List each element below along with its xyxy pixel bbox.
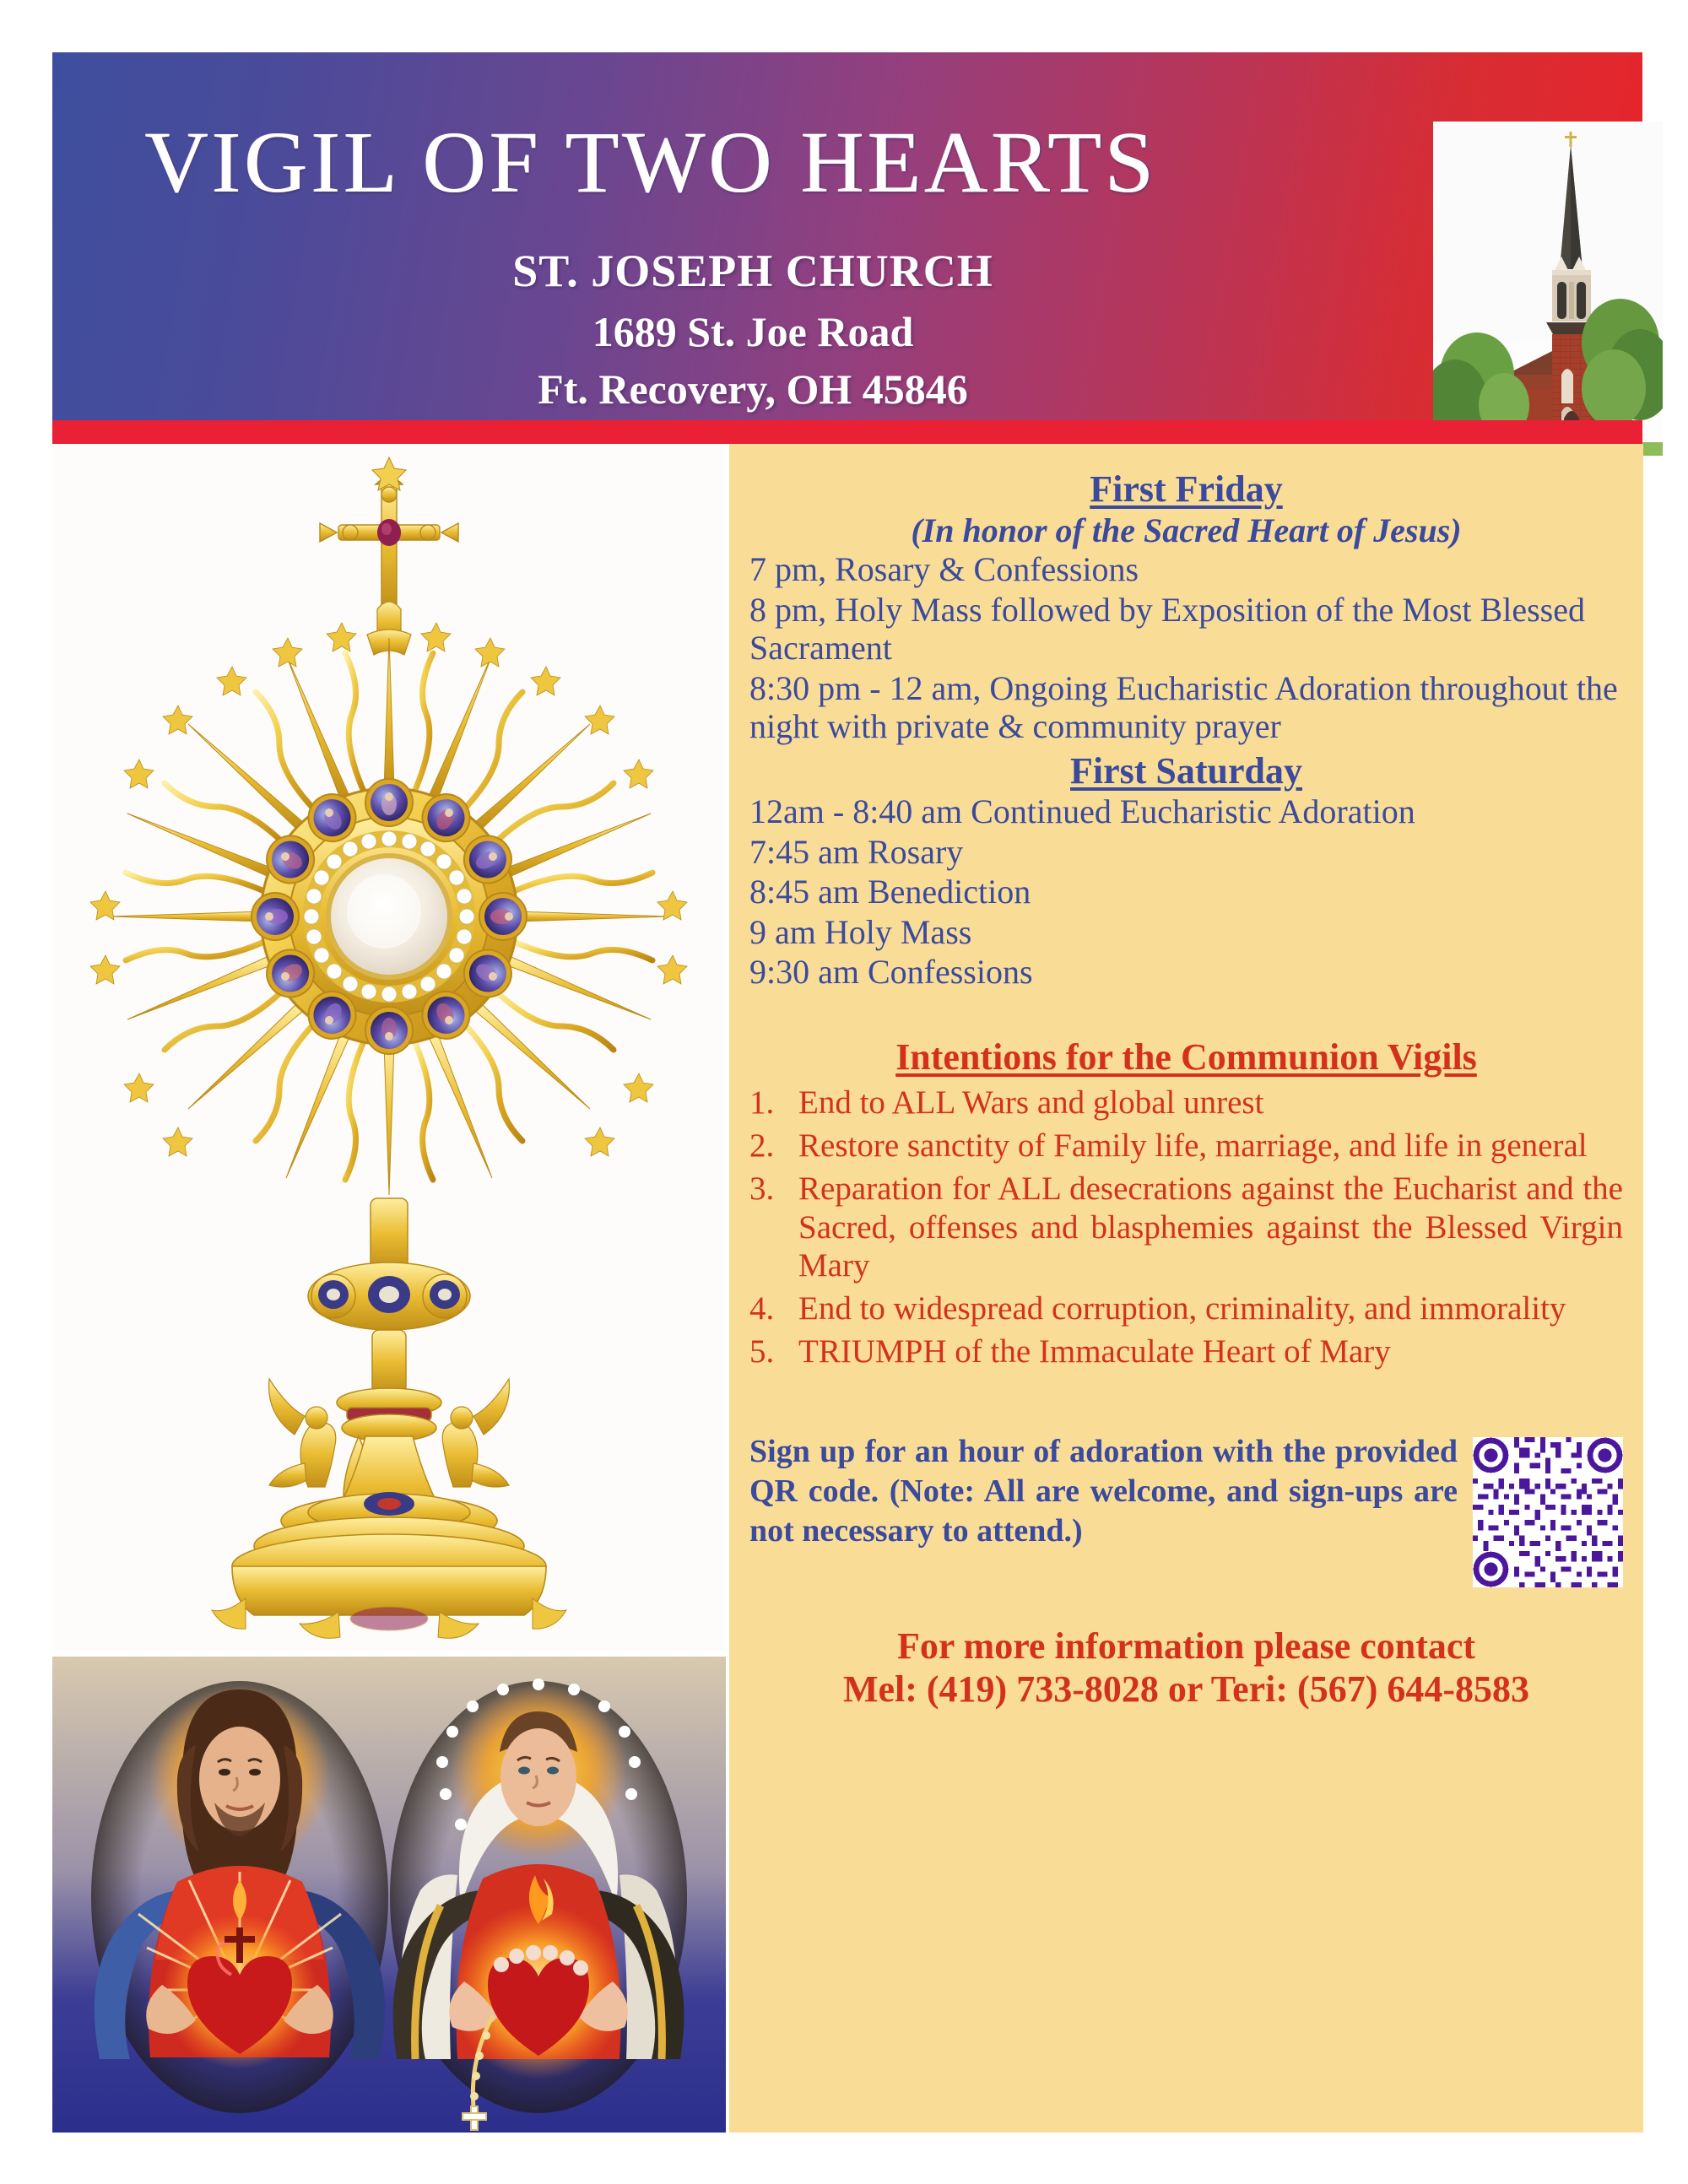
list-item: 5. TRIUMPH of the Immaculate Heart of Ma… <box>749 1333 1623 1370</box>
saturday-item-1: 12am - 8:40 am Continued Eucharistic Ado… <box>749 792 1623 831</box>
first-friday-subheading: (In honor of the Sacred Heart of Jesus) <box>749 511 1623 550</box>
friday-item-2: 8 pm, Holy Mass followed by Exposition o… <box>749 591 1623 668</box>
church-exterior-photo <box>1433 122 1663 456</box>
intention-text: End to widespread corruption, criminalit… <box>798 1289 1623 1327</box>
left-image-column <box>52 444 726 2133</box>
first-friday-heading: First Friday <box>749 468 1623 511</box>
list-item: 4. End to widespread corruption, crimina… <box>749 1289 1623 1327</box>
banner-red-bar <box>52 420 1642 444</box>
church-city-state-zip: Ft. Recovery, OH 45846 <box>145 365 1361 414</box>
poster-page: VIGIL OF TWO HEARTS ST. JOSEPH CHURCH 16… <box>0 0 1688 2184</box>
intention-number: 5. <box>749 1333 798 1370</box>
list-item: 2. Restore sanctity of Family life, marr… <box>749 1127 1623 1165</box>
friday-item-3: 8:30 pm - 12 am, Ongoing Eucharistic Ado… <box>749 669 1623 746</box>
friday-item-1: 7 pm, Rosary & Confessions <box>749 550 1623 589</box>
intention-number: 4. <box>749 1289 798 1327</box>
signup-section: Sign up for an hour of adoration with th… <box>749 1432 1623 1587</box>
page-title: VIGIL OF TWO HEARTS <box>145 118 1361 208</box>
list-item: 3. Reparation for ALL desecrations again… <box>749 1170 1623 1284</box>
saturday-item-5: 9:30 am Confessions <box>749 953 1623 992</box>
intention-text: Reparation for ALL desecrations against … <box>798 1170 1623 1284</box>
signup-instructions: Sign up for an hour of adoration with th… <box>749 1432 1473 1551</box>
intention-text: End to ALL Wars and global unrest <box>798 1084 1623 1122</box>
contact-line-2: Mel: (419) 733-8028 or Teri: (567) 644-8… <box>749 1668 1623 1711</box>
intention-number: 2. <box>749 1127 798 1165</box>
monstrance-image <box>52 444 726 1651</box>
intention-number: 1. <box>749 1084 798 1122</box>
intentions-heading: Intentions for the Communion Vigils <box>749 1035 1623 1078</box>
content-panel: First Friday (In honor of the Sacred Hea… <box>729 444 1643 2133</box>
two-hearts-image <box>52 1657 726 2133</box>
intention-text: Restore sanctity of Family life, marriag… <box>798 1127 1623 1165</box>
list-item: 1. End to ALL Wars and global unrest <box>749 1084 1623 1122</box>
contact-section: For more information please contact Mel:… <box>749 1624 1623 1711</box>
intention-text: TRIUMPH of the Immaculate Heart of Mary <box>798 1333 1623 1370</box>
saturday-item-2: 7:45 am Rosary <box>749 833 1623 872</box>
intentions-list: 1. End to ALL Wars and global unrest 2. … <box>749 1084 1623 1371</box>
saturday-item-3: 8:45 am Benediction <box>749 873 1623 911</box>
church-address: 1689 St. Joe Road <box>145 307 1361 356</box>
signup-qr-code[interactable] <box>1473 1437 1623 1587</box>
header-banner: VIGIL OF TWO HEARTS ST. JOSEPH CHURCH 16… <box>52 52 1642 420</box>
first-saturday-heading: First Saturday <box>749 749 1623 792</box>
church-name: ST. JOSEPH CHURCH <box>145 245 1361 297</box>
contact-line-1: For more information please contact <box>749 1624 1623 1668</box>
saturday-item-4: 9 am Holy Mass <box>749 913 1623 952</box>
intention-number: 3. <box>749 1170 798 1284</box>
